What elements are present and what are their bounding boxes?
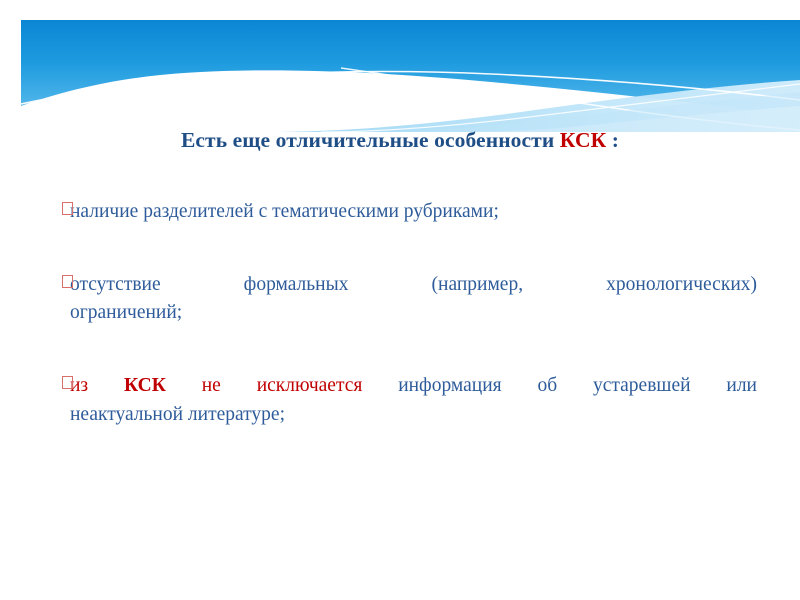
bullet-3-seg-4: информация об устаревшей или <box>398 375 757 396</box>
bullet-2-line-2: ограничений; <box>70 299 757 328</box>
bullet-1-line-1: наличие разделителей с тематическими руб… <box>70 201 499 222</box>
bullet-3-line-2: неактуальной литературе; <box>70 401 757 430</box>
bullet-list: наличие разделителей с тематическими руб… <box>45 198 757 429</box>
title-prefix: Есть еще отличительные особенности <box>181 128 560 152</box>
hollow-square-bullet-icon <box>62 202 73 215</box>
bullet-3-seg-1: из <box>70 375 124 396</box>
list-item-text: из КСК не исключается информация об уста… <box>70 372 757 429</box>
list-item: наличие разделителей с тематическими руб… <box>45 198 757 227</box>
title-accent: КСК <box>560 128 606 152</box>
title-suffix: : <box>606 128 619 152</box>
title-text-line: Есть еще отличительные особенности КСК : <box>40 128 760 153</box>
list-item: отсутствие формальных (например, хроноло… <box>45 271 757 328</box>
header-wave-banner <box>21 20 800 132</box>
bullet-3-seg-2-accent: КСК <box>124 375 166 396</box>
slide-title: Есть еще отличительные особенности КСК : <box>40 128 760 153</box>
bullet-3-seg-3: не исключается <box>166 375 398 396</box>
hollow-square-bullet-icon <box>62 275 73 288</box>
hollow-square-bullet-icon <box>62 376 73 389</box>
list-item: из КСК не исключается информация об уста… <box>45 372 757 429</box>
list-item-text: отсутствие формальных (например, хроноло… <box>70 271 757 328</box>
slide-canvas: Есть еще отличительные особенности КСК :… <box>0 0 800 600</box>
bullet-3-line-1: из КСК не исключается информация об уста… <box>70 372 757 401</box>
list-item-text: наличие разделителей с тематическими руб… <box>70 201 499 222</box>
bullet-2-line-1: отсутствие формальных (например, хроноло… <box>70 271 757 300</box>
